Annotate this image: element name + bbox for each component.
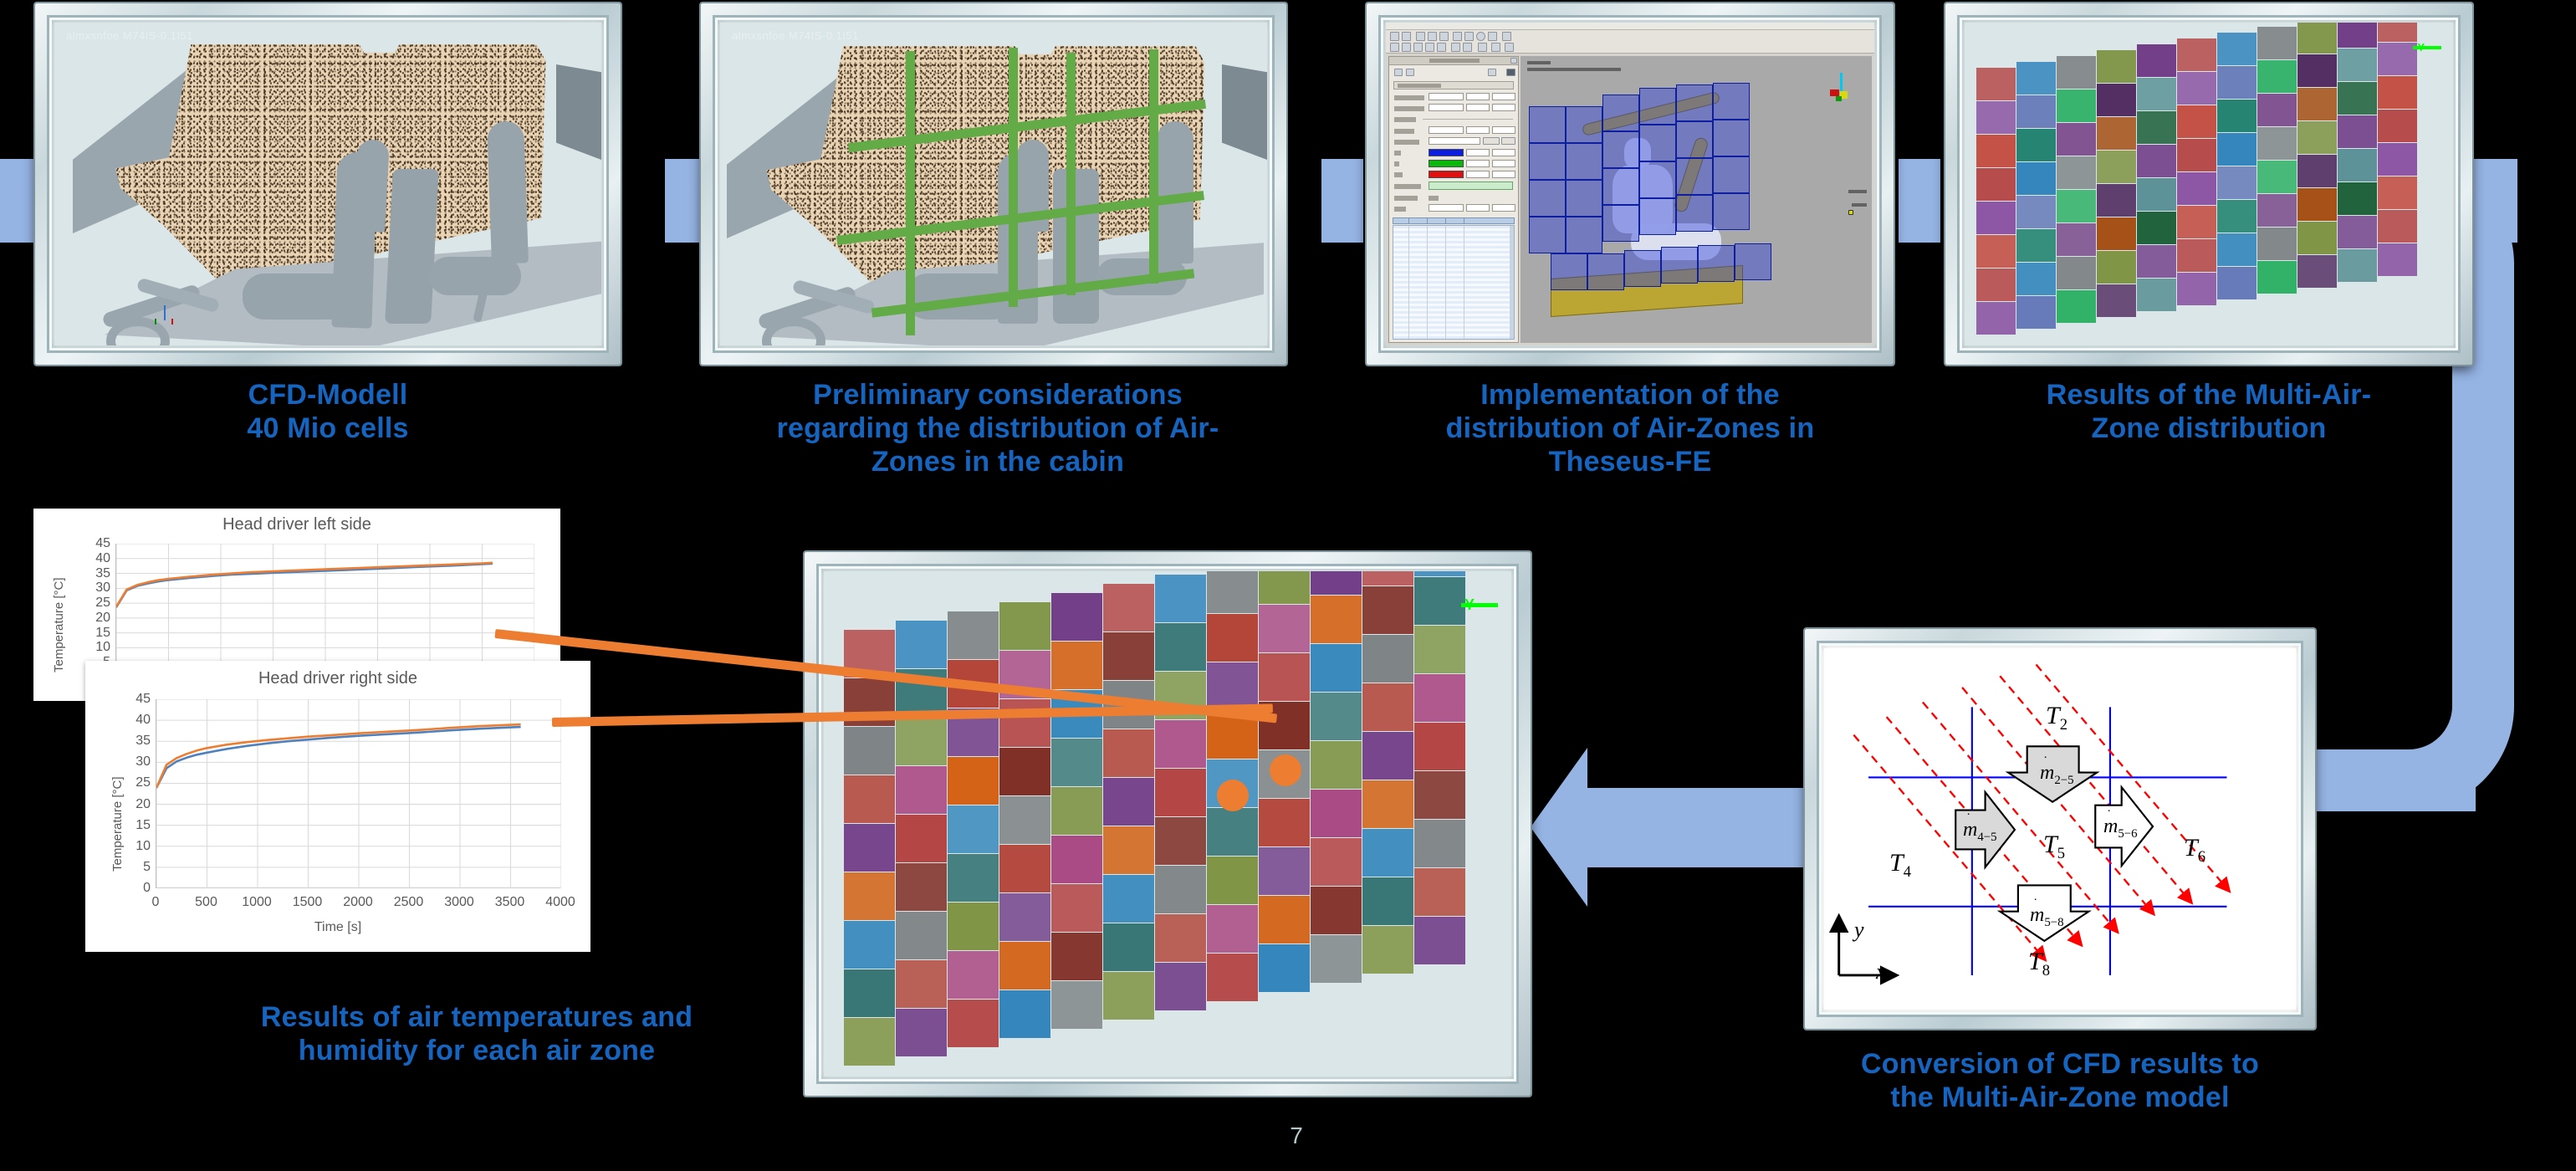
airzone-box [1602, 95, 1639, 131]
airzone-cell [948, 951, 999, 999]
viewport-axis-triad [1830, 73, 1852, 101]
color-swatch-x[interactable] [1429, 160, 1464, 167]
chart-ylabel-left: Temperature [°C] [52, 577, 66, 672]
chart-xtick-label: 2500 [382, 895, 436, 910]
airzone-box [1566, 217, 1602, 253]
create-airzones-button[interactable] [1429, 182, 1513, 190]
airzone-cell [1155, 575, 1206, 622]
seat-center-console [385, 169, 439, 324]
viewport-watermark: almxsnfoe M74IS-0.1I51 [66, 29, 193, 42]
airzone-cell [2057, 156, 2096, 189]
caption-theseus: Implementation of the distribution of Ai… [1367, 378, 1894, 478]
save-button[interactable] [1506, 69, 1515, 76]
airzone-cell [2217, 100, 2257, 132]
field-label-number-of-vol [1394, 196, 1418, 201]
grid-icon[interactable] [1502, 32, 1511, 41]
airzone-box [1713, 156, 1750, 193]
software-menubar[interactable] [1386, 23, 1874, 30]
airzone-cell [1051, 739, 1102, 786]
spacing-y-input[interactable] [1466, 126, 1490, 134]
airzone-cell [2177, 172, 2216, 205]
airzone-cell [1362, 926, 1413, 974]
airzone-cell [2297, 23, 2337, 54]
airzone-cell [2016, 162, 2056, 195]
airzone-cell [1155, 866, 1206, 913]
airzone-box [1551, 253, 1587, 290]
airzone-cell [1362, 635, 1413, 683]
airzone-cell [2177, 206, 2216, 238]
theseus-3d-viewport[interactable] [1521, 56, 1872, 343]
panel-theseus-frame [1367, 3, 1894, 365]
airzone-cell [1207, 905, 1258, 953]
apply-to-set-select[interactable] [1429, 137, 1480, 145]
airzone-cell [999, 893, 1050, 941]
alpha-rot-input[interactable] [1466, 171, 1490, 178]
sketch-axis-label-y: y [1854, 918, 1864, 943]
caption-cfd-model-line-1: CFD-Modell [52, 378, 604, 412]
search-icon[interactable] [1476, 32, 1485, 41]
airzone-cell [2177, 38, 2216, 71]
airzone-cell [2297, 155, 2337, 187]
seat-right [487, 120, 529, 263]
conversion-sketch-viewport: T2 T4 T5 T6 T8 ˙m2−5 ˙m4−5 [1824, 648, 2296, 1010]
chart-xtick-label: 3000 [432, 895, 486, 910]
airzone-cell [2137, 178, 2176, 211]
airzone-cell [1051, 933, 1102, 980]
big-left-arrow-shaft [1585, 788, 1823, 867]
airzone-grid-vertical-4 [1149, 49, 1158, 284]
airzone-cell [1414, 723, 1465, 770]
spacing-x-input[interactable] [1429, 126, 1464, 134]
viewport-info-text-line-1 [1527, 61, 1551, 64]
airzone-cell [2338, 82, 2377, 115]
sketch-axis-label-x: x [1876, 959, 1886, 984]
airzone-cell [2097, 117, 2136, 150]
airzone-cell [948, 1000, 999, 1047]
chart-ytick-label: 30 [79, 580, 110, 596]
airzone-cell [1976, 101, 2016, 134]
connector-bar-left-edge [0, 159, 33, 243]
chart-plot-area-left [115, 544, 534, 678]
airzone-cell [844, 824, 895, 872]
toolbar-icon[interactable] [1402, 32, 1411, 41]
panel-conversion-frame: T2 T4 T5 T6 T8 ˙m2−5 ˙m4−5 [1805, 629, 2315, 1029]
software-window [1386, 23, 1874, 345]
airzone-cell [1103, 729, 1154, 777]
airzone-cell [2217, 233, 2257, 266]
airzone-cell [2097, 217, 2136, 250]
toolbar-icon[interactable] [1437, 43, 1446, 52]
page-number: 7 [1271, 1122, 1321, 1149]
chart-xtick-label: 0 [129, 895, 182, 910]
airzone-cell [2257, 27, 2297, 59]
airzone-big-viewport: Y [824, 571, 1511, 1076]
toolbar-icon[interactable] [1491, 43, 1500, 52]
airzone-cell [1155, 817, 1206, 865]
airzone-cell [2016, 129, 2056, 161]
airzone-cell [1259, 799, 1310, 846]
airzone-cell [2057, 123, 2096, 156]
divider [1423, 119, 1513, 120]
airzone-cell [2016, 62, 2056, 95]
airzone-cell [2297, 88, 2337, 120]
airzone-cell [1051, 787, 1102, 835]
chart-ytick-label: 10 [79, 640, 110, 655]
airzone-cell [2137, 245, 2176, 278]
airzone-cell [1103, 923, 1154, 971]
toolbar-icon[interactable] [1505, 43, 1514, 52]
border-all-input[interactable] [1492, 149, 1515, 156]
chart-plot-area-right [156, 699, 560, 888]
airzone-cell [1362, 683, 1413, 731]
caption-conversion: Conversion of CFD results to the Multi-A… [1781, 1047, 2338, 1114]
airzone-box [1602, 131, 1639, 168]
toolbar-icon[interactable] [1390, 43, 1399, 52]
field-label-filter [1394, 207, 1406, 212]
chart-xtick-label: 500 [180, 895, 233, 910]
airzone-cell [2137, 212, 2176, 244]
airzone-cell [1259, 847, 1310, 895]
airzone-cell [1311, 741, 1362, 789]
toolbar-icon[interactable] [1402, 43, 1411, 52]
airzone-box [1529, 217, 1566, 253]
airzone-box [1602, 168, 1639, 205]
chart-ytick-label: 40 [79, 551, 110, 566]
airzone-table-body[interactable] [1393, 225, 1515, 340]
airzone-cell [1311, 838, 1362, 886]
airzone-cell [896, 863, 947, 911]
sketch-label-T2: T2 [2046, 702, 2067, 734]
airzone-cell [2137, 145, 2176, 177]
airzone-cell [1051, 642, 1102, 689]
airzone-cell [948, 854, 999, 902]
caption-preliminary-line-2: regarding the distribution of Air- [709, 412, 1286, 445]
toolbar-icon[interactable] [1428, 32, 1437, 41]
airzone-cell [1311, 935, 1362, 983]
toolbar-icon[interactable] [1478, 43, 1487, 52]
airzone-cell [1976, 168, 2016, 201]
airzone-cell [1311, 644, 1362, 692]
airzone-cell [1259, 571, 1310, 604]
caption-cfd-model: CFD-Modell 40 Mio cells [52, 378, 604, 445]
airzone-box [1735, 243, 1771, 280]
airzone-cell [1976, 202, 2016, 234]
airzone-cell [1103, 875, 1154, 923]
chart-series-svg-left [116, 544, 534, 678]
airzone-box [1566, 143, 1602, 180]
airzone-cell [844, 727, 895, 775]
panel-preliminary-inner: almxsnfoe M74IS-0.1I51 [713, 15, 1275, 353]
airzone-cell [1414, 868, 1465, 916]
toolbar-icon[interactable] [1439, 32, 1449, 41]
chart-series-svg-right [156, 699, 561, 888]
airzone-color-mosaic-big [824, 571, 1511, 1076]
chart-ytick-label: 35 [79, 566, 110, 581]
axis-triad-green [1461, 603, 1498, 607]
airzone-box [1639, 198, 1676, 235]
toolbar-icon[interactable] [1451, 43, 1460, 52]
airzone-box [1713, 120, 1750, 156]
airzone-cell [1414, 626, 1465, 673]
sketch-label-mdot-5-8: ˙m5−8 [2030, 904, 2064, 930]
airzone-cell [1259, 605, 1310, 652]
field-label-x [1394, 161, 1399, 166]
airzone-cell [2217, 200, 2257, 233]
airzone-cell [2217, 267, 2257, 299]
airzone-cell [2057, 257, 2096, 289]
airzone-cell [948, 611, 999, 659]
chart-card-head-driver-right: Head driver right side 05101520253035404… [85, 661, 590, 952]
airzone-cell [2016, 263, 2056, 295]
field-label-model-maxima [1394, 106, 1424, 111]
airzone-cell [2217, 166, 2257, 199]
pointer-endpoint-upper [1270, 754, 1301, 786]
airzone-cell [1976, 302, 2016, 335]
airzone-cell [2177, 239, 2216, 272]
chart-ytick-label: 15 [79, 626, 110, 641]
airzone-cell [1103, 826, 1154, 874]
caption-preliminary-line-1: Preliminary considerations [709, 378, 1286, 412]
airzone-cell [1207, 571, 1258, 613]
chart-ylabel-right: Temperature [°C] [110, 776, 125, 872]
airzone-cell [2338, 182, 2377, 215]
model-minima-x-input[interactable] [1429, 93, 1464, 100]
chart-ytick-label: 30 [119, 754, 151, 770]
airzone-cell [1051, 884, 1102, 932]
airzone-cell [2177, 139, 2216, 171]
airzone-cell [999, 990, 1050, 1038]
airzone-cell [2297, 222, 2337, 254]
airzone-cell [2057, 290, 2096, 323]
panel-title-text [1429, 59, 1480, 63]
airzone-cell [1155, 720, 1206, 768]
toolbar-icon[interactable] [1453, 32, 1462, 41]
field-label-all [1394, 151, 1401, 156]
field-label-spacing [1394, 129, 1414, 134]
airzone-cell [1259, 653, 1310, 701]
show-button[interactable] [1483, 137, 1500, 145]
slide-canvas: almxsnfoe M74IS-0.1I51 CFD-Modell 40 Mio… [0, 0, 2576, 1171]
caption-results-air-temperatures: Results of air temperatures and humidity… [167, 1000, 786, 1067]
airzone-cell [896, 621, 947, 668]
airzone-cell [2137, 44, 2176, 77]
nav-prev-button[interactable] [1394, 69, 1403, 76]
airzone-cell [2257, 60, 2297, 93]
table-rows-stripes [1393, 226, 1514, 339]
model-minima-z-input[interactable] [1492, 93, 1515, 100]
airzone-cell [2016, 196, 2056, 228]
caption-airzone-results-line-1: Results of the Multi-Air- [1945, 378, 2472, 412]
airzone-cell [948, 757, 999, 805]
airzone-cell [1103, 584, 1154, 632]
airzone-cell [844, 1018, 895, 1066]
sketch-label-T8: T8 [2028, 948, 2050, 980]
airzone-box [1639, 161, 1676, 198]
toolbar-icon[interactable] [1463, 43, 1472, 52]
airzone-cell [2378, 176, 2417, 209]
model-maxima-z-input[interactable] [1492, 104, 1515, 111]
panel-cfd-model-inner: almxsnfoe M74IS-0.1I51 [47, 15, 609, 353]
airzone-cell [2057, 56, 2096, 89]
airzone-cell [999, 796, 1050, 844]
airzone-cell [948, 805, 999, 853]
chart-ytick-label: 35 [119, 734, 151, 749]
airzone-cell [2097, 151, 2136, 183]
filter-x-input[interactable] [1429, 204, 1464, 212]
field-label-create-airzones [1394, 184, 1421, 189]
airzone-cell [896, 960, 947, 1008]
viewport-watermark: almxsnfoe M74IS-0.1I51 [732, 29, 859, 42]
airzone-cell [896, 766, 947, 814]
airzone-cell [2338, 49, 2377, 81]
legend-color-chip [1848, 210, 1853, 215]
airzone-cell [2057, 223, 2096, 256]
color-swatch-rot[interactable] [1429, 171, 1464, 178]
chart-ytick-label: 25 [79, 596, 110, 611]
model-maxima-y-input[interactable] [1466, 104, 1490, 111]
airzone-cell [2097, 284, 2136, 317]
pointer-endpoint-lower [1217, 780, 1249, 811]
color-swatch-all[interactable] [1429, 149, 1464, 156]
theseus-screenshot [1386, 23, 1874, 345]
filter-z-input[interactable] [1492, 204, 1515, 212]
toolbar-icon[interactable] [1488, 32, 1497, 41]
number-of-vol-value [1429, 196, 1439, 201]
airzone-cell [1976, 235, 2016, 268]
caption-conversion-line-2: the Multi-Air-Zone model [1781, 1081, 2338, 1114]
airzone-cell [1414, 820, 1465, 867]
airzone-cell [1207, 808, 1258, 856]
chart-ytick-label: 45 [79, 536, 110, 551]
airzone-cell [1311, 596, 1362, 643]
airzone-box [1698, 245, 1735, 282]
airzone-cell [844, 872, 895, 920]
view-options-button[interactable] [1488, 69, 1496, 76]
panel-airzone-big-inner: Y [816, 564, 1519, 1084]
filter-y-input[interactable] [1466, 204, 1490, 212]
airzone-table-header [1393, 217, 1515, 224]
airzone-box [1713, 83, 1750, 120]
airzone-cell [1362, 829, 1413, 877]
airzone-cell [2257, 161, 2297, 193]
airzone-cell [2097, 251, 2136, 284]
airzone-box [1566, 106, 1602, 143]
toolbar-icon[interactable] [1390, 32, 1399, 41]
toolbar-icon[interactable] [1413, 43, 1423, 52]
alpha-all-input[interactable] [1466, 149, 1490, 156]
airzone-cell [1311, 693, 1362, 740]
chart-title-left: Head driver left side [33, 515, 560, 534]
chart-xlabel-right: Time [s] [85, 920, 590, 935]
model-maxima-x-input[interactable] [1429, 104, 1464, 111]
seat-center-console [1053, 169, 1099, 324]
border-x-input[interactable] [1492, 160, 1515, 167]
section-header-label [1398, 84, 1441, 88]
model-minima-y-input[interactable] [1466, 93, 1490, 100]
airzone-cell [2338, 115, 2377, 148]
airzone-cell [2378, 210, 2417, 243]
panel-airzone-results-inner: Y [1957, 15, 2461, 353]
sketch-label-mdot-4-5: ˙m4−5 [1963, 819, 1997, 845]
airzone-cell [1051, 593, 1102, 641]
airzone-cell [2297, 255, 2337, 288]
chart-series-line [156, 727, 521, 788]
airzone-cell [999, 602, 1050, 650]
close-icon[interactable] [1510, 58, 1517, 64]
border-rot-input[interactable] [1492, 171, 1515, 178]
airzone-box [1676, 84, 1713, 121]
seat-front-left-cushion [243, 274, 351, 320]
connector-bar-2-3 [1321, 159, 1363, 243]
airzone-cell [2257, 194, 2297, 227]
airzone-cell [896, 718, 947, 765]
airzone-grid-vertical-2 [1009, 48, 1018, 307]
airzone-cell [2217, 66, 2257, 99]
airzone-box [1676, 121, 1713, 158]
airzone-cell [2097, 84, 2136, 116]
airzone-cell [1259, 896, 1310, 943]
airzone-cell [999, 748, 1050, 795]
chart-xtick-label: 2000 [331, 895, 385, 910]
airzone-cell [1207, 857, 1258, 904]
airzone-cell [2137, 111, 2176, 144]
alpha-x-input[interactable] [1466, 160, 1490, 167]
airzone-cell [1362, 586, 1413, 634]
toolbar-icon[interactable] [1425, 43, 1434, 52]
airzone-cell [2257, 228, 2297, 260]
airzone-cell [1362, 780, 1413, 828]
airzone-cell [2378, 23, 2417, 42]
chart-ytick-label: 0 [119, 881, 151, 896]
caption-results-line-2: humidity for each air zone [167, 1034, 786, 1067]
airzone-cell [1051, 981, 1102, 1029]
airzone-cell [2057, 89, 2096, 122]
airzone-box [1713, 193, 1750, 230]
toolbar-icon[interactable] [1464, 32, 1474, 41]
cfd-model-viewport: almxsnfoe M74IS-0.1I51 [54, 23, 601, 345]
software-toolbar[interactable] [1386, 30, 1874, 54]
table-scrollbar[interactable] [1510, 226, 1514, 339]
toolbar-icon[interactable] [1416, 32, 1425, 41]
airzone-box [1676, 158, 1713, 195]
airzone-cell [2137, 279, 2176, 311]
nav-next-button[interactable] [1406, 69, 1414, 76]
airzone-cell [1311, 790, 1362, 837]
caption-results-line-1: Results of air temperatures and [167, 1000, 786, 1034]
airzone-box [1676, 195, 1713, 232]
panel-cfd-model-frame: almxsnfoe M74IS-0.1I51 [35, 3, 621, 365]
field-label-apply-to-set [1394, 140, 1419, 145]
multi-airzone-generator-panel[interactable] [1388, 56, 1519, 343]
airzone-cell [948, 903, 999, 950]
airzone-cell [999, 845, 1050, 892]
origin-axes-triad [153, 305, 176, 327]
airzone-cell [2217, 133, 2257, 166]
field-label-model-minima [1394, 95, 1424, 100]
airzone-box [1529, 143, 1566, 180]
legend-shell-label [1848, 190, 1867, 193]
airzone-cell [1414, 571, 1465, 576]
airzone-cell [1155, 963, 1206, 1010]
spacing-z-input[interactable] [1492, 126, 1515, 134]
legend-entry [1852, 203, 1867, 207]
airzone-cell [1414, 674, 1465, 722]
execute-button[interactable] [1501, 137, 1515, 145]
sketch-label-mdot-2-5: ˙m2−5 [2040, 762, 2074, 788]
caption-cfd-model-line-2: 40 Mio cells [52, 412, 604, 445]
airzone-cell [844, 969, 895, 1017]
airzone-box [1529, 106, 1566, 143]
